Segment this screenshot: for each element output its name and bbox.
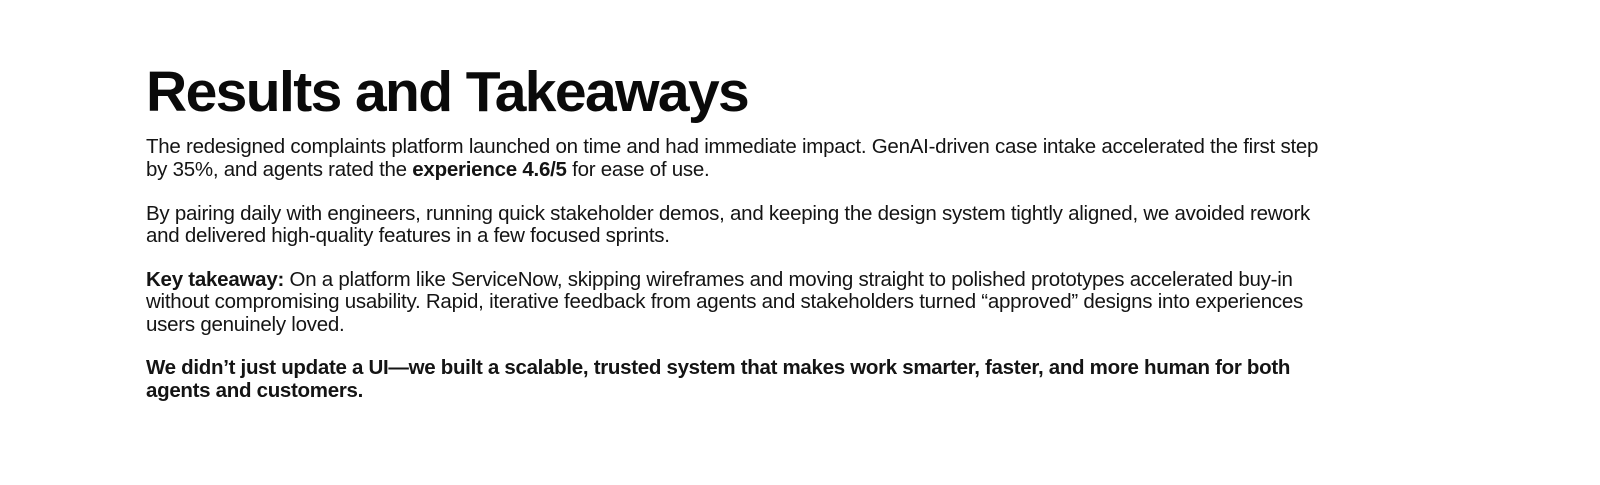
- text-run: By pairing daily with engineers, running…: [146, 202, 1310, 248]
- emphasis-run: experience 4.6/5: [412, 158, 566, 181]
- paragraph-impact-summary: The redesigned complaints platform launc…: [146, 136, 1341, 181]
- emphasis-run: We didn’t just update a UI—we built a sc…: [146, 356, 1290, 402]
- text-run: for ease of use.: [567, 158, 710, 181]
- paragraph-key-takeaway: Key takeaway: On a platform like Service…: [146, 269, 1341, 337]
- body-copy: The redesigned complaints platform launc…: [146, 136, 1346, 402]
- text-run: On a platform like ServiceNow, skipping …: [146, 268, 1303, 336]
- text-run: The redesigned complaints platform launc…: [146, 135, 1318, 181]
- content-column: Results and Takeaways The redesigned com…: [146, 62, 1346, 402]
- page-title: Results and Takeaways: [146, 62, 1346, 122]
- slide-root: Results and Takeaways The redesigned com…: [0, 0, 1600, 485]
- paragraph-process-summary: By pairing daily with engineers, running…: [146, 203, 1341, 248]
- emphasis-run: Key takeaway:: [146, 268, 284, 291]
- paragraph-closing-statement: We didn’t just update a UI—we built a sc…: [146, 357, 1341, 402]
